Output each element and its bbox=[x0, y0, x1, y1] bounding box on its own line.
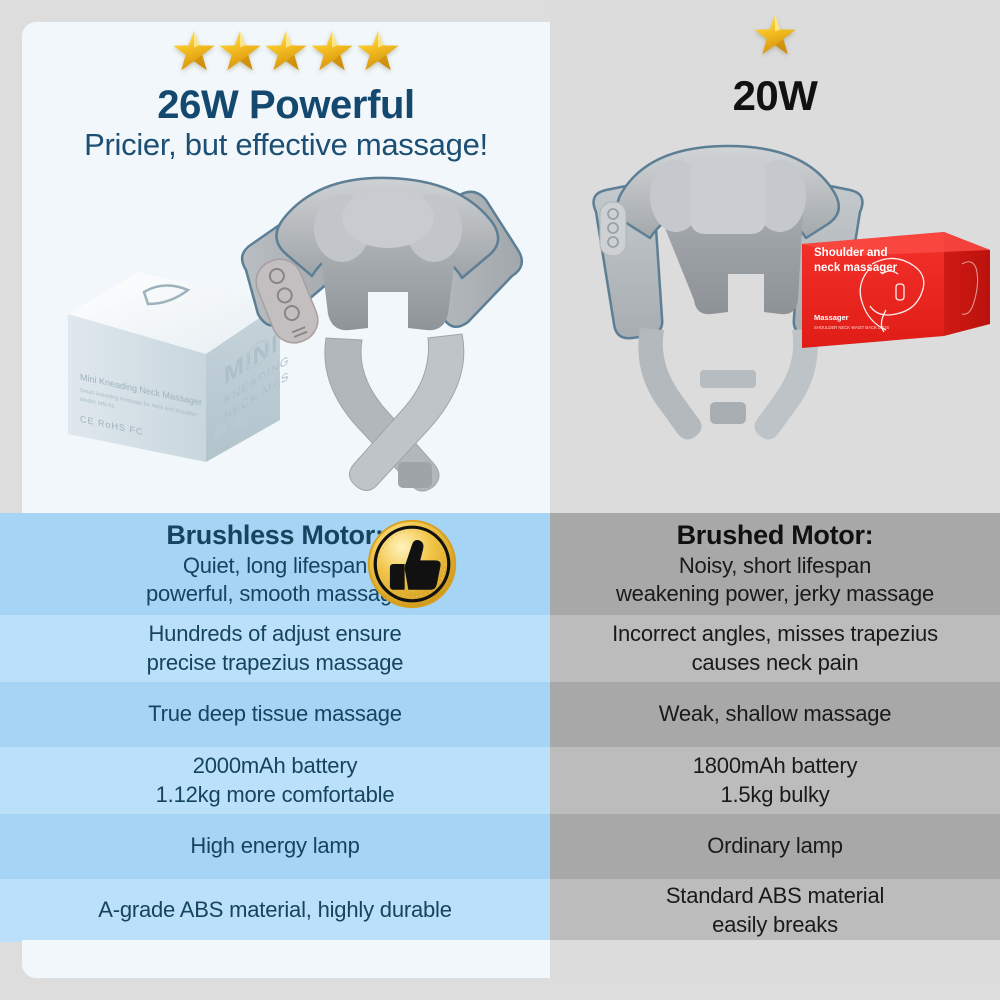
right-hero: 20W bbox=[550, 0, 1000, 513]
table-row: High energy lamp Ordinary lamp bbox=[0, 814, 1000, 879]
gold-thumbs-up-badge-icon bbox=[366, 518, 458, 610]
row-line-right: causes neck pain bbox=[692, 649, 859, 677]
left-title: 26W Powerful bbox=[22, 84, 550, 126]
star-icon bbox=[753, 14, 797, 56]
star-icon bbox=[218, 30, 262, 72]
row-cell-right: Weak, shallow massage bbox=[550, 682, 1000, 747]
table-row: Hundreds of adjust ensure precise trapez… bbox=[0, 615, 1000, 682]
left-hero: 26W Powerful Pricier, but effective mass… bbox=[22, 22, 550, 513]
table-row: 2000mAh battery 1.12kg more comfortable … bbox=[0, 747, 1000, 814]
row-cell-right: Standard ABS material easily breaks bbox=[550, 879, 1000, 942]
row-cell-right: Incorrect angles, misses trapezius cause… bbox=[550, 615, 1000, 682]
row-cell-right: 1800mAh battery 1.5kg bulky bbox=[550, 747, 1000, 814]
row-line-right: weakening power, jerky massage bbox=[616, 580, 934, 608]
row-line-left: High energy lamp bbox=[190, 832, 359, 860]
row-line-left: A-grade ABS material, highly durable bbox=[98, 896, 452, 924]
table-row: Brushless Motor: Quiet, long lifespan po… bbox=[0, 513, 1000, 615]
row-cell-left: High energy lamp bbox=[0, 814, 550, 879]
row-line-left: Hundreds of adjust ensure bbox=[148, 620, 401, 648]
right-panel-footer bbox=[550, 940, 1000, 978]
row-line-left: precise trapezius massage bbox=[147, 649, 404, 677]
row-line-left: 2000mAh battery bbox=[193, 752, 358, 780]
star-icon bbox=[264, 30, 308, 72]
left-star-rating bbox=[22, 30, 550, 72]
table-row: A-grade ABS material, highly durable Sta… bbox=[0, 879, 1000, 942]
row-line-right: Ordinary lamp bbox=[707, 832, 843, 860]
row-cell-left: Hundreds of adjust ensure precise trapez… bbox=[0, 615, 550, 682]
row-cell-left: True deep tissue massage bbox=[0, 682, 550, 747]
comparison-infographic: 26W Powerful Pricier, but effective mass… bbox=[0, 0, 1000, 1000]
row-line-right: Incorrect angles, misses trapezius bbox=[612, 620, 938, 648]
row-headline-right: Brushed Motor: bbox=[677, 520, 874, 551]
row-line-left: 1.12kg more comfortable bbox=[156, 781, 395, 809]
row-line-right: 1800mAh battery bbox=[693, 752, 858, 780]
star-icon bbox=[310, 30, 354, 72]
row-line-right: Standard ABS material bbox=[666, 882, 884, 910]
svg-text:Shoulder and: Shoulder and bbox=[814, 247, 887, 259]
left-subtitle: Pricier, but effective massage! bbox=[22, 128, 550, 162]
right-title: 20W bbox=[550, 72, 1000, 120]
svg-text:Massager: Massager bbox=[814, 313, 849, 322]
row-line-right: easily breaks bbox=[712, 911, 838, 939]
table-row: True deep tissue massage Weak, shallow m… bbox=[0, 682, 1000, 747]
left-massager-image bbox=[222, 162, 552, 512]
row-line-right: Noisy, short lifespan bbox=[679, 552, 871, 580]
star-icon bbox=[356, 30, 400, 72]
left-panel-footer bbox=[22, 940, 550, 978]
row-line-left: Quiet, long lifespan bbox=[183, 552, 367, 580]
comparison-table: Brushless Motor: Quiet, long lifespan po… bbox=[0, 513, 1000, 940]
row-line-right: Weak, shallow massage bbox=[659, 700, 892, 728]
right-star-rating bbox=[550, 14, 1000, 56]
row-cell-left: A-grade ABS material, highly durable bbox=[0, 879, 550, 942]
row-line-right: 1.5kg bulky bbox=[720, 781, 829, 809]
row-headline-left: Brushless Motor: bbox=[166, 520, 383, 551]
row-cell-right: Brushed Motor: Noisy, short lifespan wea… bbox=[550, 513, 1000, 615]
row-cell-right: Ordinary lamp bbox=[550, 814, 1000, 879]
star-icon bbox=[172, 30, 216, 72]
right-product-box-image: Shoulder and neck massager Massager SHOU… bbox=[798, 228, 998, 358]
row-cell-left: Brushless Motor: Quiet, long lifespan po… bbox=[0, 513, 550, 615]
row-line-left: True deep tissue massage bbox=[148, 700, 402, 728]
row-cell-left: 2000mAh battery 1.12kg more comfortable bbox=[0, 747, 550, 814]
